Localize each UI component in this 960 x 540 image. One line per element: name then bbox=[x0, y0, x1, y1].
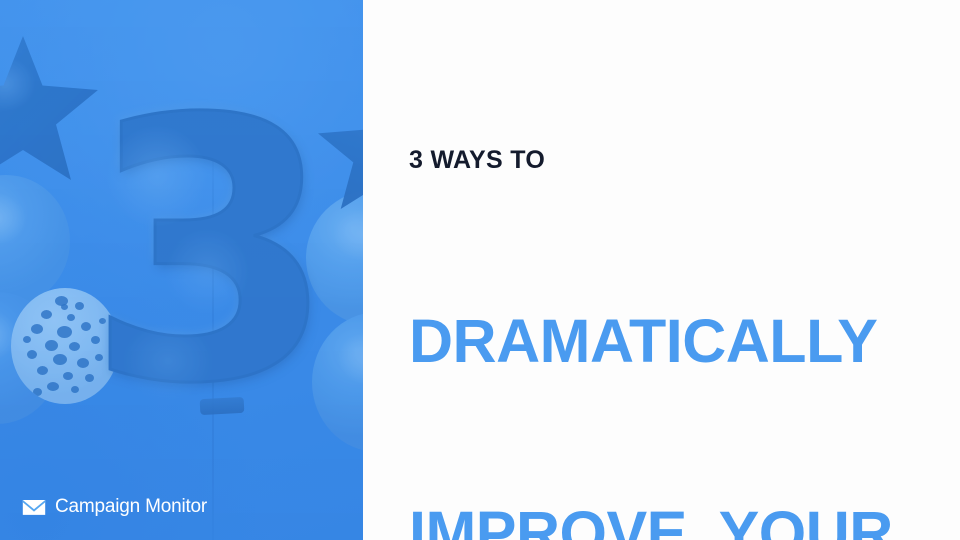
presentation-slide: 3 Campaign Monitor 3 WAYS TO DRAMATICALL… bbox=[0, 0, 960, 540]
confetti-dot bbox=[71, 386, 79, 393]
headline-line-1: DRAMATICALLY bbox=[409, 309, 893, 373]
confetti-dot bbox=[53, 354, 67, 365]
slide-eyebrow: 3 WAYS TO bbox=[409, 148, 545, 173]
confetti-dot bbox=[41, 310, 52, 319]
confetti-dot bbox=[31, 324, 43, 334]
envelope-icon bbox=[22, 499, 46, 516]
confetti-dot bbox=[33, 388, 42, 396]
slide-content: 3 WAYS TO DRAMATICALLY IMPROVE YOUR EMAI… bbox=[409, 0, 960, 540]
slide-headline: DRAMATICALLY IMPROVE YOUR EMAIL RESULTS bbox=[409, 181, 893, 540]
brand-logo-text: Campaign Monitor bbox=[55, 496, 207, 518]
confetti-dot bbox=[45, 340, 58, 351]
confetti-dot bbox=[47, 382, 59, 391]
hero-photo-panel: 3 Campaign Monitor bbox=[0, 0, 363, 540]
number-three-balloon: 3 bbox=[86, 108, 286, 418]
confetti-dot bbox=[23, 336, 31, 343]
confetti-dot bbox=[69, 342, 80, 351]
confetti-dot bbox=[75, 302, 84, 310]
confetti-dot bbox=[27, 350, 37, 359]
confetti-dot bbox=[57, 326, 72, 338]
balloon-photo: 3 bbox=[0, 0, 363, 540]
number-three-tie bbox=[200, 397, 245, 415]
confetti-dot bbox=[37, 366, 48, 375]
confetti-dot bbox=[63, 372, 73, 380]
brand-logo: Campaign Monitor bbox=[22, 496, 207, 518]
headline-line-2: IMPROVE YOUR bbox=[409, 501, 893, 540]
confetti-dot bbox=[67, 314, 75, 321]
confetti-dot bbox=[61, 304, 68, 310]
